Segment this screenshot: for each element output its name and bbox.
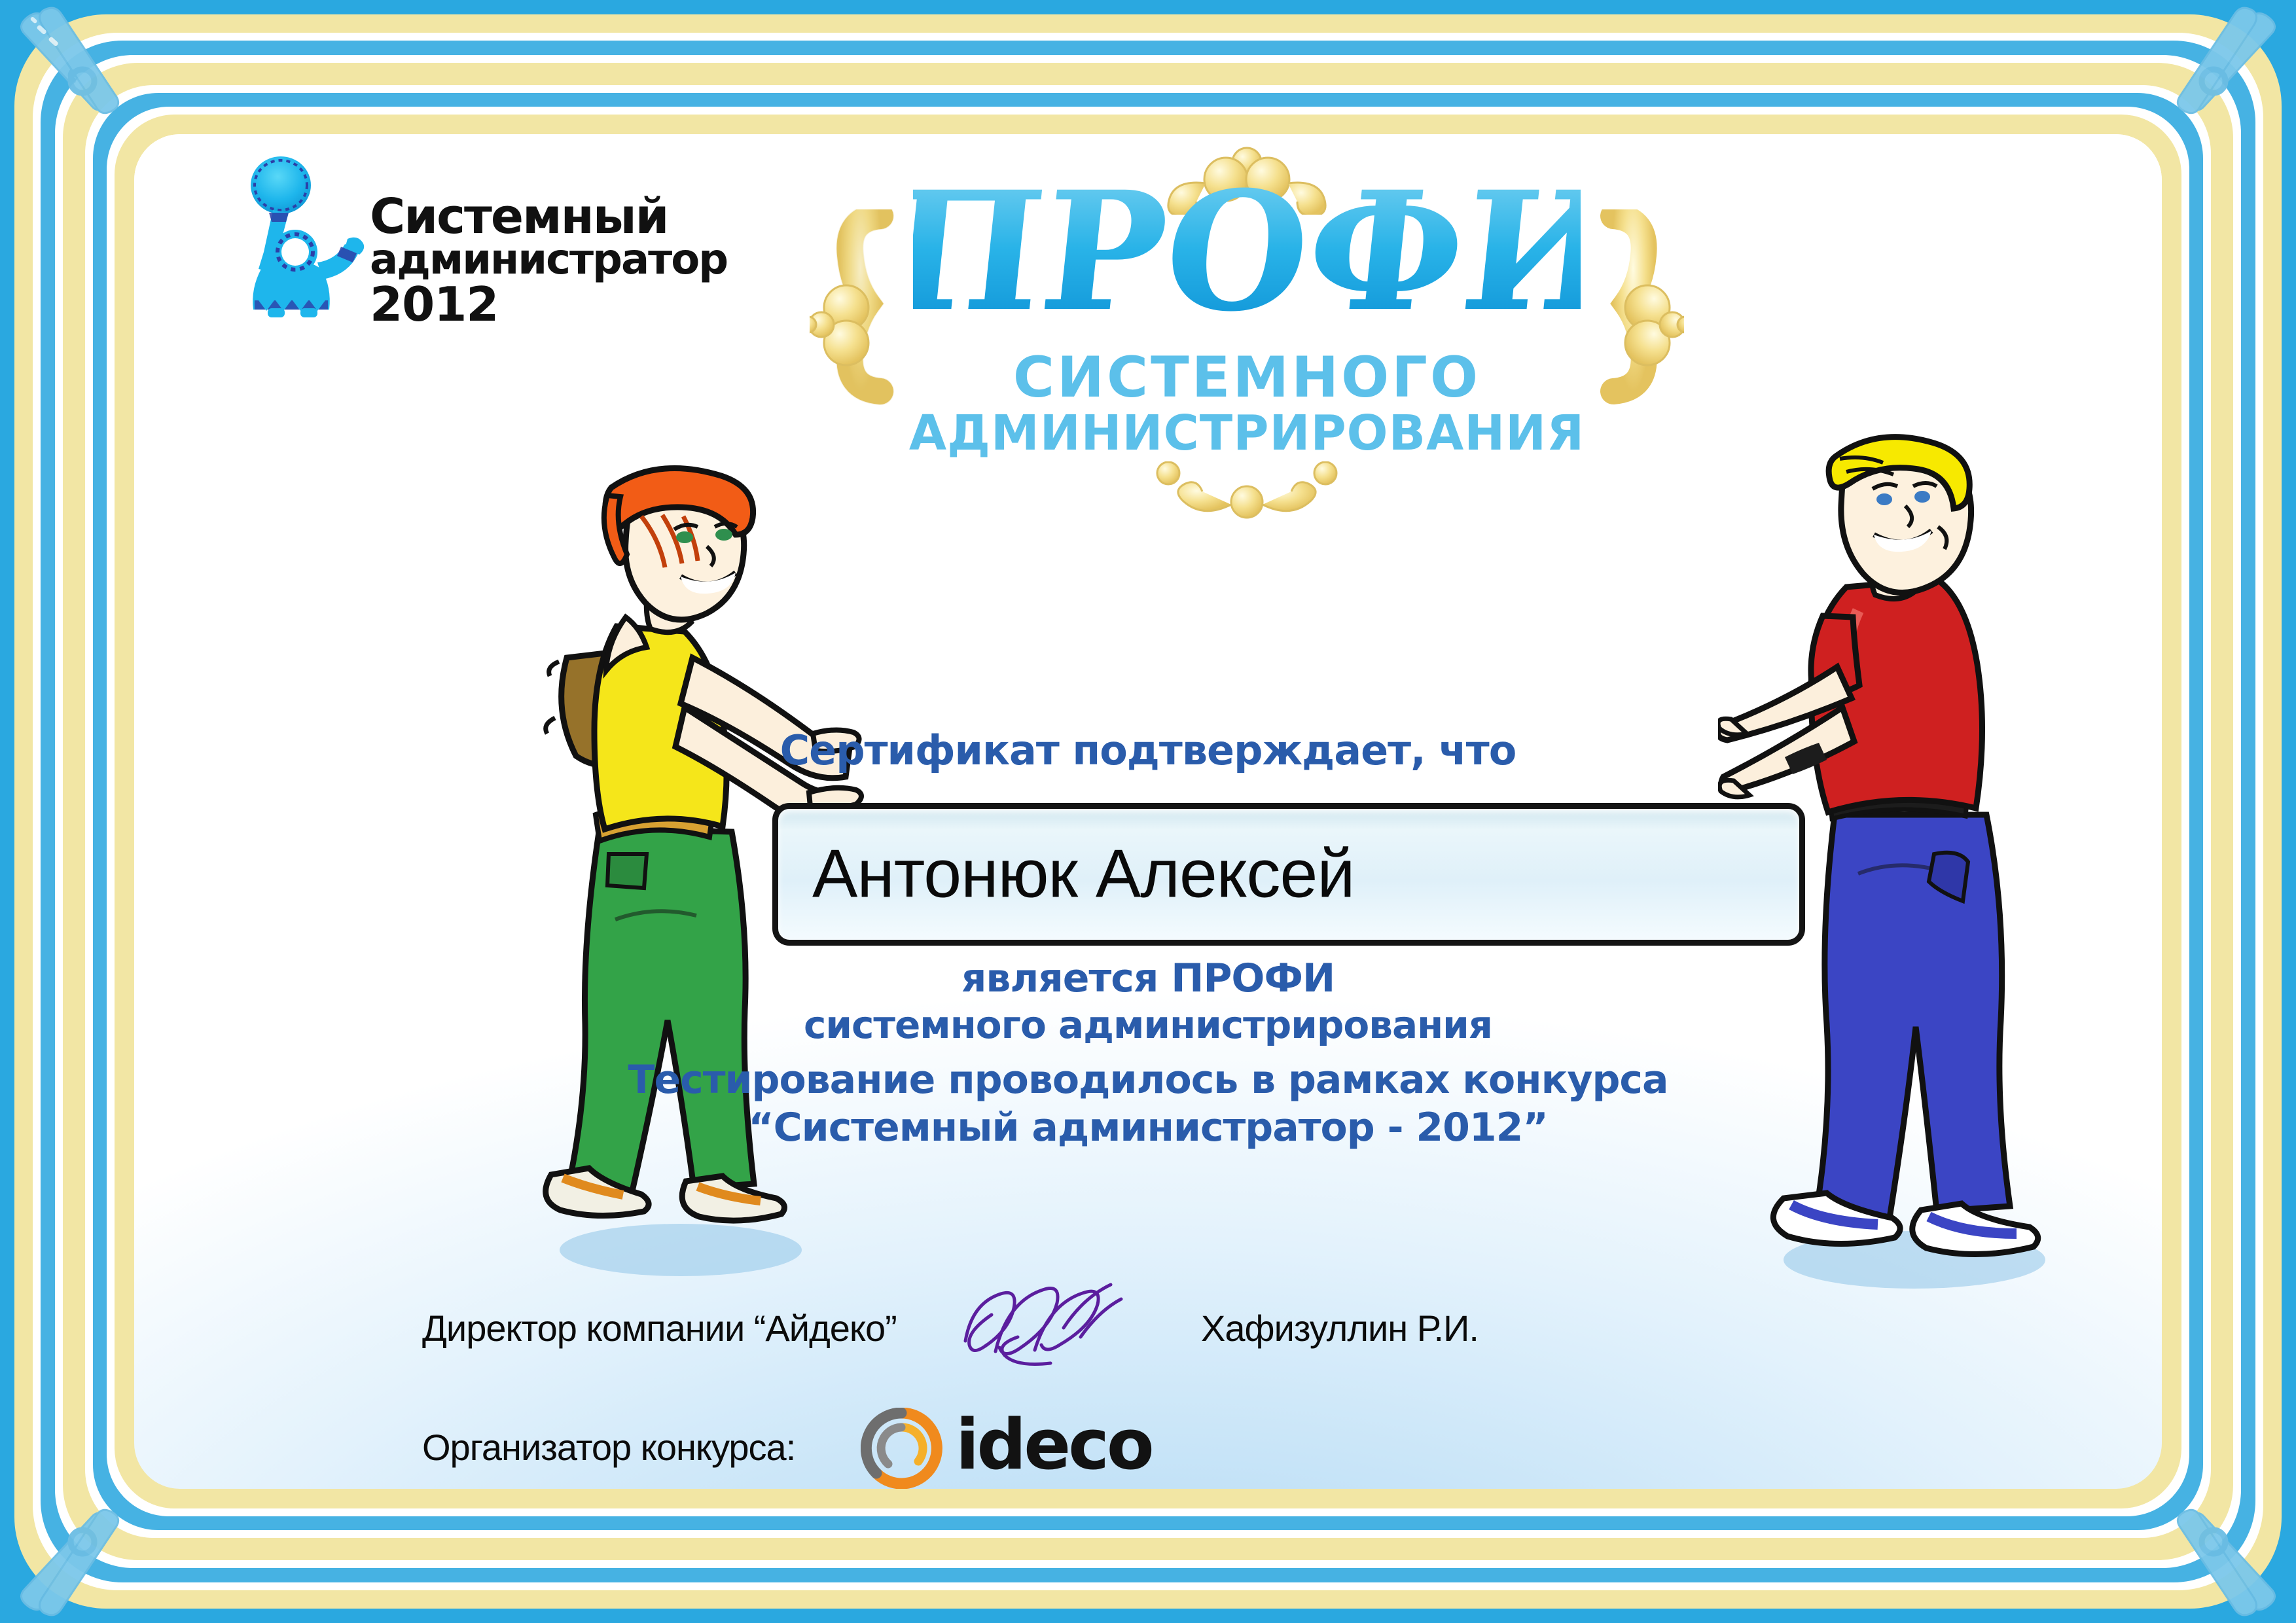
profi-header-block: ПРОФИ СИСТЕМНОГО АДМИНИСТРИРОВАНИЯ <box>815 164 1679 460</box>
body-line-4: “Системный администратор - 2012” <box>134 1104 2162 1152</box>
profi-subtitle-1: СИСТЕМНОГО <box>815 348 1679 408</box>
profi-wordmark-text: ПРОФИ <box>913 164 1581 348</box>
sysadmin-logo-line1: Системный <box>370 194 645 239</box>
pliers-icon-top-left <box>14 5 165 156</box>
sysadmin-logo-line2: администратор <box>370 239 645 281</box>
profi-subtitle-2: АДМИНИСТРИРОВАНИЯ <box>815 408 1679 460</box>
profi-wordmark-svg: ПРОФИ <box>913 164 1581 353</box>
eskimo-with-drum-icon <box>232 154 389 317</box>
name-plate: Антонюк Алексей <box>772 803 1805 946</box>
signature-label: Директор компании “Айдеко” <box>422 1307 897 1349</box>
organizer-label: Организатор конкурса: <box>422 1426 795 1469</box>
certificate-paper: Системный администратор 2012 <box>134 134 2162 1489</box>
handwritten-signature-icon <box>952 1265 1149 1370</box>
pliers-icon-bottom-right <box>2131 1467 2282 1618</box>
body-line-2: системного администрирования <box>134 1002 2162 1048</box>
ideco-logo: ideco <box>861 1404 1188 1489</box>
pliers-icon-top-right <box>2131 5 2282 156</box>
gold-flourish-bottom-icon <box>1149 461 1345 527</box>
sysadmin-2012-logo: Системный администратор 2012 <box>232 154 638 317</box>
body-line-1: является ПРОФИ <box>134 955 2162 1002</box>
pliers-icon-bottom-left <box>14 1467 165 1618</box>
signature-row: Директор компании “Айдеко” Хафизуллин Р.… <box>422 1293 1535 1378</box>
certificate-canvas: Системный администратор 2012 <box>0 0 2296 1623</box>
sysadmin-logo-line3: 2012 <box>370 281 645 328</box>
sysadmin-logo-text: Системный администратор 2012 <box>370 194 645 328</box>
confirm-line: Сертификат подтверждает, что <box>134 726 2162 774</box>
ideco-wordmark: ideco <box>956 1410 1152 1480</box>
organizer-row: Организатор конкурса: ideco <box>422 1404 1338 1489</box>
ideco-ring-icon <box>861 1408 942 1489</box>
body-text-block: является ПРОФИ системного администрирова… <box>134 955 2162 1152</box>
body-line-3: Тестирование проводилось в рамках конкур… <box>134 1056 2162 1104</box>
signatory-name: Хафизуллин Р.И. <box>1201 1307 1479 1349</box>
profi-wordmark: ПРОФИ <box>815 164 1679 353</box>
recipient-name: Антонюк Алексей <box>812 836 1354 914</box>
